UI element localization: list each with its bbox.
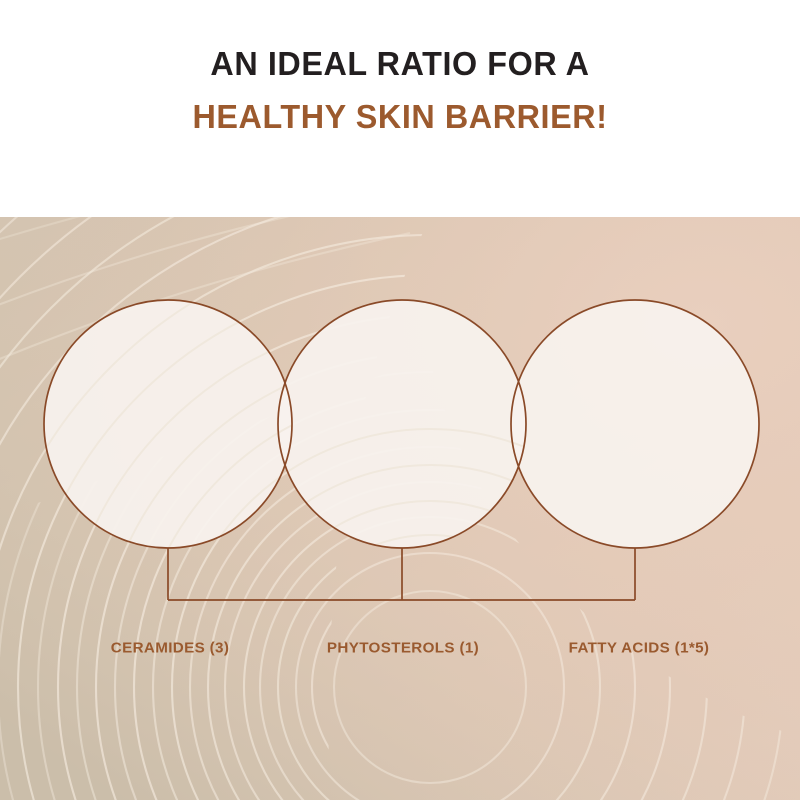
venn-circle-fatty-acids[interactable] bbox=[511, 300, 759, 548]
infographic-poster: AN IDEAL RATIO FOR A HEALTHY SKIN BARRIE… bbox=[0, 0, 800, 800]
venn-label-ceramides: CERAMIDES (3) bbox=[111, 640, 229, 657]
venn-label-fatty-acids: FATTY ACIDS (1*5) bbox=[569, 640, 710, 657]
header-band: AN IDEAL RATIO FOR A HEALTHY SKIN BARRIE… bbox=[0, 0, 800, 217]
headline-line-2: HEALTHY SKIN BARRIER! bbox=[14, 99, 786, 138]
venn-label-phytosterols: PHYTOSTEROLS (1) bbox=[327, 640, 479, 657]
headline-group: AN IDEAL RATIO FOR A HEALTHY SKIN BARRIE… bbox=[0, 46, 800, 138]
headline-line-1: AN IDEAL RATIO FOR A bbox=[14, 46, 786, 85]
diagram-canvas bbox=[0, 217, 800, 800]
diagram-artwork: CERAMIDES (3) PHYTOSTEROLS (1) FATTY ACI… bbox=[0, 217, 800, 800]
